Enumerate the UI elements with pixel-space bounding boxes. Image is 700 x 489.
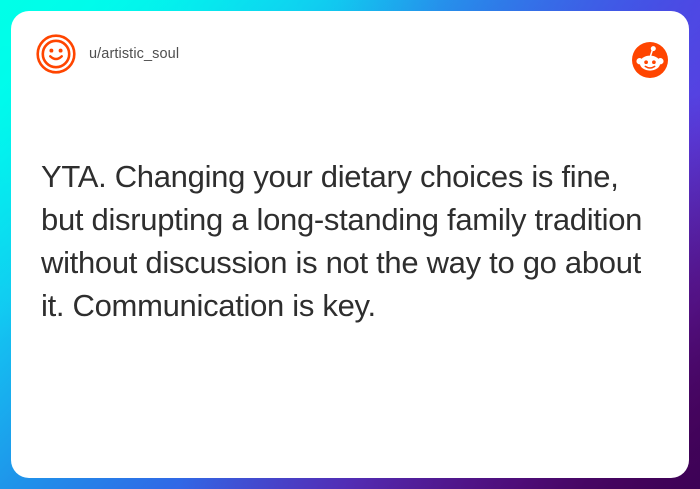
card-header: u/artistic_soul [11,11,689,97]
author-username: u/artistic_soul [89,46,179,62]
reddit-comment-card: u/artistic_soul YTA. Changing your [11,11,689,478]
author-block[interactable]: u/artistic_soul [36,34,179,74]
card-body: YTA. Changing your dietary choices is fi… [41,155,653,327]
screenshot-root: u/artistic_soul YTA. Changing your [0,0,700,489]
smiley-face-avatar-icon[interactable] [36,34,76,74]
comment-text: YTA. Changing your dietary choices is fi… [41,155,653,327]
reddit-snoo-logo-icon[interactable] [632,42,668,78]
